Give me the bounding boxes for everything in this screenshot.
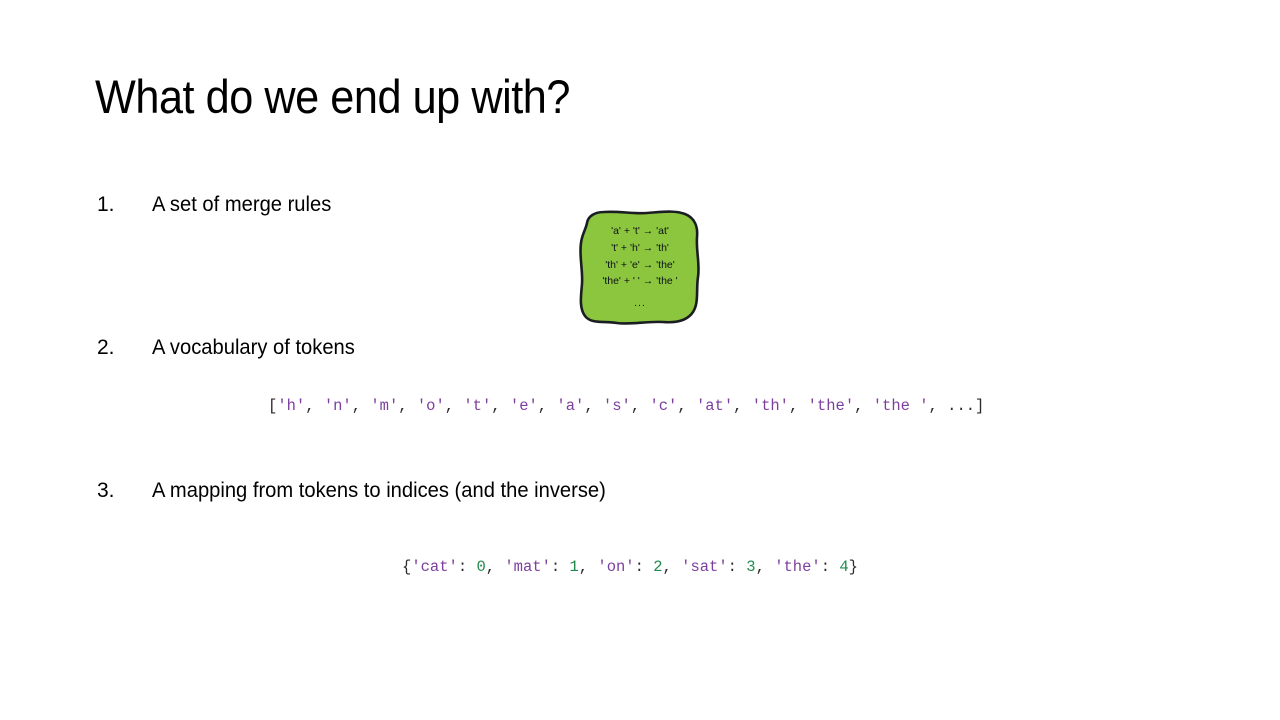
merge-rule: 't' + 'h' → 'th'	[611, 241, 669, 257]
merge-rule: 'the' + ' ' → 'the '	[602, 274, 677, 290]
code-string: 'h'	[277, 397, 305, 415]
code-punctuation: ,	[631, 397, 650, 415]
list-item-number: 3.	[97, 478, 152, 504]
code-number: 2	[653, 558, 662, 576]
code-punctuation: ,	[854, 397, 873, 415]
code-punctuation: ,	[579, 558, 598, 576]
code-punctuation: ,	[352, 397, 371, 415]
code-string: 'm'	[370, 397, 398, 415]
code-punctuation: {	[402, 558, 411, 576]
list-item: 1. A set of merge rules	[97, 192, 339, 218]
code-number: 4	[839, 558, 848, 576]
code-punctuation: ,	[663, 558, 682, 576]
list-item-number: 1.	[97, 192, 152, 218]
code-punctuation: ,	[584, 397, 603, 415]
list-item-label: A mapping from tokens to indices (and th…	[152, 478, 606, 504]
code-punctuation: ,	[486, 558, 505, 576]
code-string: 'cat'	[411, 558, 458, 576]
merge-rule: 'th' + 'e' → 'the'	[605, 258, 675, 274]
code-string: 'mat'	[504, 558, 551, 576]
code-string: 'the'	[808, 397, 855, 415]
list-item-label: A vocabulary of tokens	[152, 335, 355, 361]
merge-rules-ellipsis: ...	[634, 296, 646, 312]
code-punctuation: ,	[491, 397, 510, 415]
code-punctuation: :	[551, 558, 570, 576]
code-number: 1	[569, 558, 578, 576]
code-punctuation: ,	[677, 397, 696, 415]
code-string: 'o'	[417, 397, 445, 415]
code-punctuation: }	[849, 558, 858, 576]
merge-rule: 'a' + 't' → 'at'	[611, 224, 669, 240]
list-item-label: A set of merge rules	[152, 192, 331, 218]
mapping-code-snippet: {'cat': 0, 'mat': 1, 'on': 2, 'sat': 3, …	[402, 557, 858, 577]
code-string: 'the '	[873, 397, 929, 415]
code-string: 'on'	[597, 558, 634, 576]
code-number: 0	[476, 558, 485, 576]
code-punctuation: ,	[538, 397, 557, 415]
list-item: 3. A mapping from tokens to indices (and…	[97, 478, 625, 504]
code-string: 'c'	[649, 397, 677, 415]
merge-rules-callout: 'a' + 't' → 'at' 't' + 'h' → 'th' 'th' +…	[575, 207, 705, 329]
code-punctuation: ,	[789, 397, 808, 415]
vocabulary-code-snippet: ['h', 'n', 'm', 'o', 't', 'e', 'a', 's',…	[268, 396, 984, 416]
code-string: 'sat'	[681, 558, 728, 576]
code-punctuation: ,	[733, 397, 752, 415]
merge-rules-list: 'a' + 't' → 'at' 't' + 'h' → 'th' 'th' +…	[575, 207, 705, 329]
list-item: 2. A vocabulary of tokens	[97, 335, 363, 361]
code-punctuation: :	[821, 558, 840, 576]
code-string: 'at'	[696, 397, 733, 415]
code-string: 's'	[603, 397, 631, 415]
slide-canvas: What do we end up with? 1. A set of merg…	[0, 0, 1280, 720]
code-string: 'a'	[556, 397, 584, 415]
code-punctuation: , ...]	[929, 397, 985, 415]
code-punctuation: ,	[398, 397, 417, 415]
code-punctuation: ,	[756, 558, 775, 576]
code-punctuation: :	[458, 558, 477, 576]
code-punctuation: :	[728, 558, 747, 576]
code-string: 't'	[463, 397, 491, 415]
page-title: What do we end up with?	[95, 70, 570, 124]
list-item-number: 2.	[97, 335, 152, 361]
code-punctuation: ,	[305, 397, 324, 415]
code-string: 'e'	[510, 397, 538, 415]
code-string: 'th'	[752, 397, 789, 415]
code-punctuation: [	[268, 397, 277, 415]
code-punctuation: ,	[445, 397, 464, 415]
code-punctuation: :	[635, 558, 654, 576]
code-number: 3	[746, 558, 755, 576]
code-string: 'the'	[774, 558, 821, 576]
code-string: 'n'	[324, 397, 352, 415]
